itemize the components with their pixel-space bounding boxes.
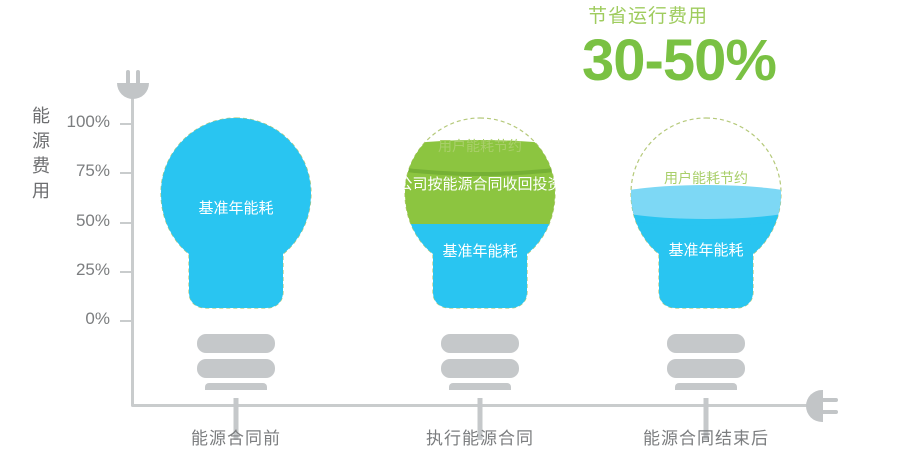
segment-baseline-1 xyxy=(126,118,346,314)
plug-prong xyxy=(821,398,838,402)
bulb-fill-1 xyxy=(126,118,346,314)
base-ring xyxy=(441,334,519,353)
bulb-fill-3 xyxy=(596,185,816,320)
segment-baseline-2 xyxy=(370,223,590,318)
bulb-group-during-contract: 用户能耗节约 公司按能源合同收回投资 基准年能耗 执行能源合同 xyxy=(370,0,590,473)
y-axis-tick-label: 25% xyxy=(40,260,110,280)
y-axis-tick-label: 75% xyxy=(40,161,110,181)
base-ring xyxy=(441,359,519,378)
y-axis-tick-label: 50% xyxy=(40,211,110,231)
infographic-canvas: 节省运行费用 30-50% 能源费用 100%75%50%25%0% xyxy=(0,0,900,473)
segment-liquid-surface-3 xyxy=(598,185,814,219)
base-ring xyxy=(667,334,745,353)
bulb-group-before-contract: 基准年能耗 能源合同前 xyxy=(126,0,346,473)
base-tip xyxy=(675,383,737,390)
x-axis-label-3: 能源合同结束后 xyxy=(596,424,816,449)
bulb-group-after-contract: 用户能耗节约 基准年能耗 能源合同结束后 xyxy=(596,0,816,473)
base-tip xyxy=(205,383,267,390)
base-ring xyxy=(197,334,275,353)
x-axis-label-1: 能源合同前 xyxy=(126,424,346,449)
base-ring xyxy=(667,359,745,378)
y-axis-tick-label: 0% xyxy=(40,309,110,329)
segment-investment-surface-2 xyxy=(370,140,590,172)
base-ring xyxy=(197,359,275,378)
base-tip xyxy=(449,383,511,390)
plug-prong xyxy=(821,410,838,414)
y-axis-tick-label: 100% xyxy=(40,112,110,132)
x-axis-label-2: 执行能源合同 xyxy=(370,424,590,449)
bulb-fill-2 xyxy=(370,140,590,318)
